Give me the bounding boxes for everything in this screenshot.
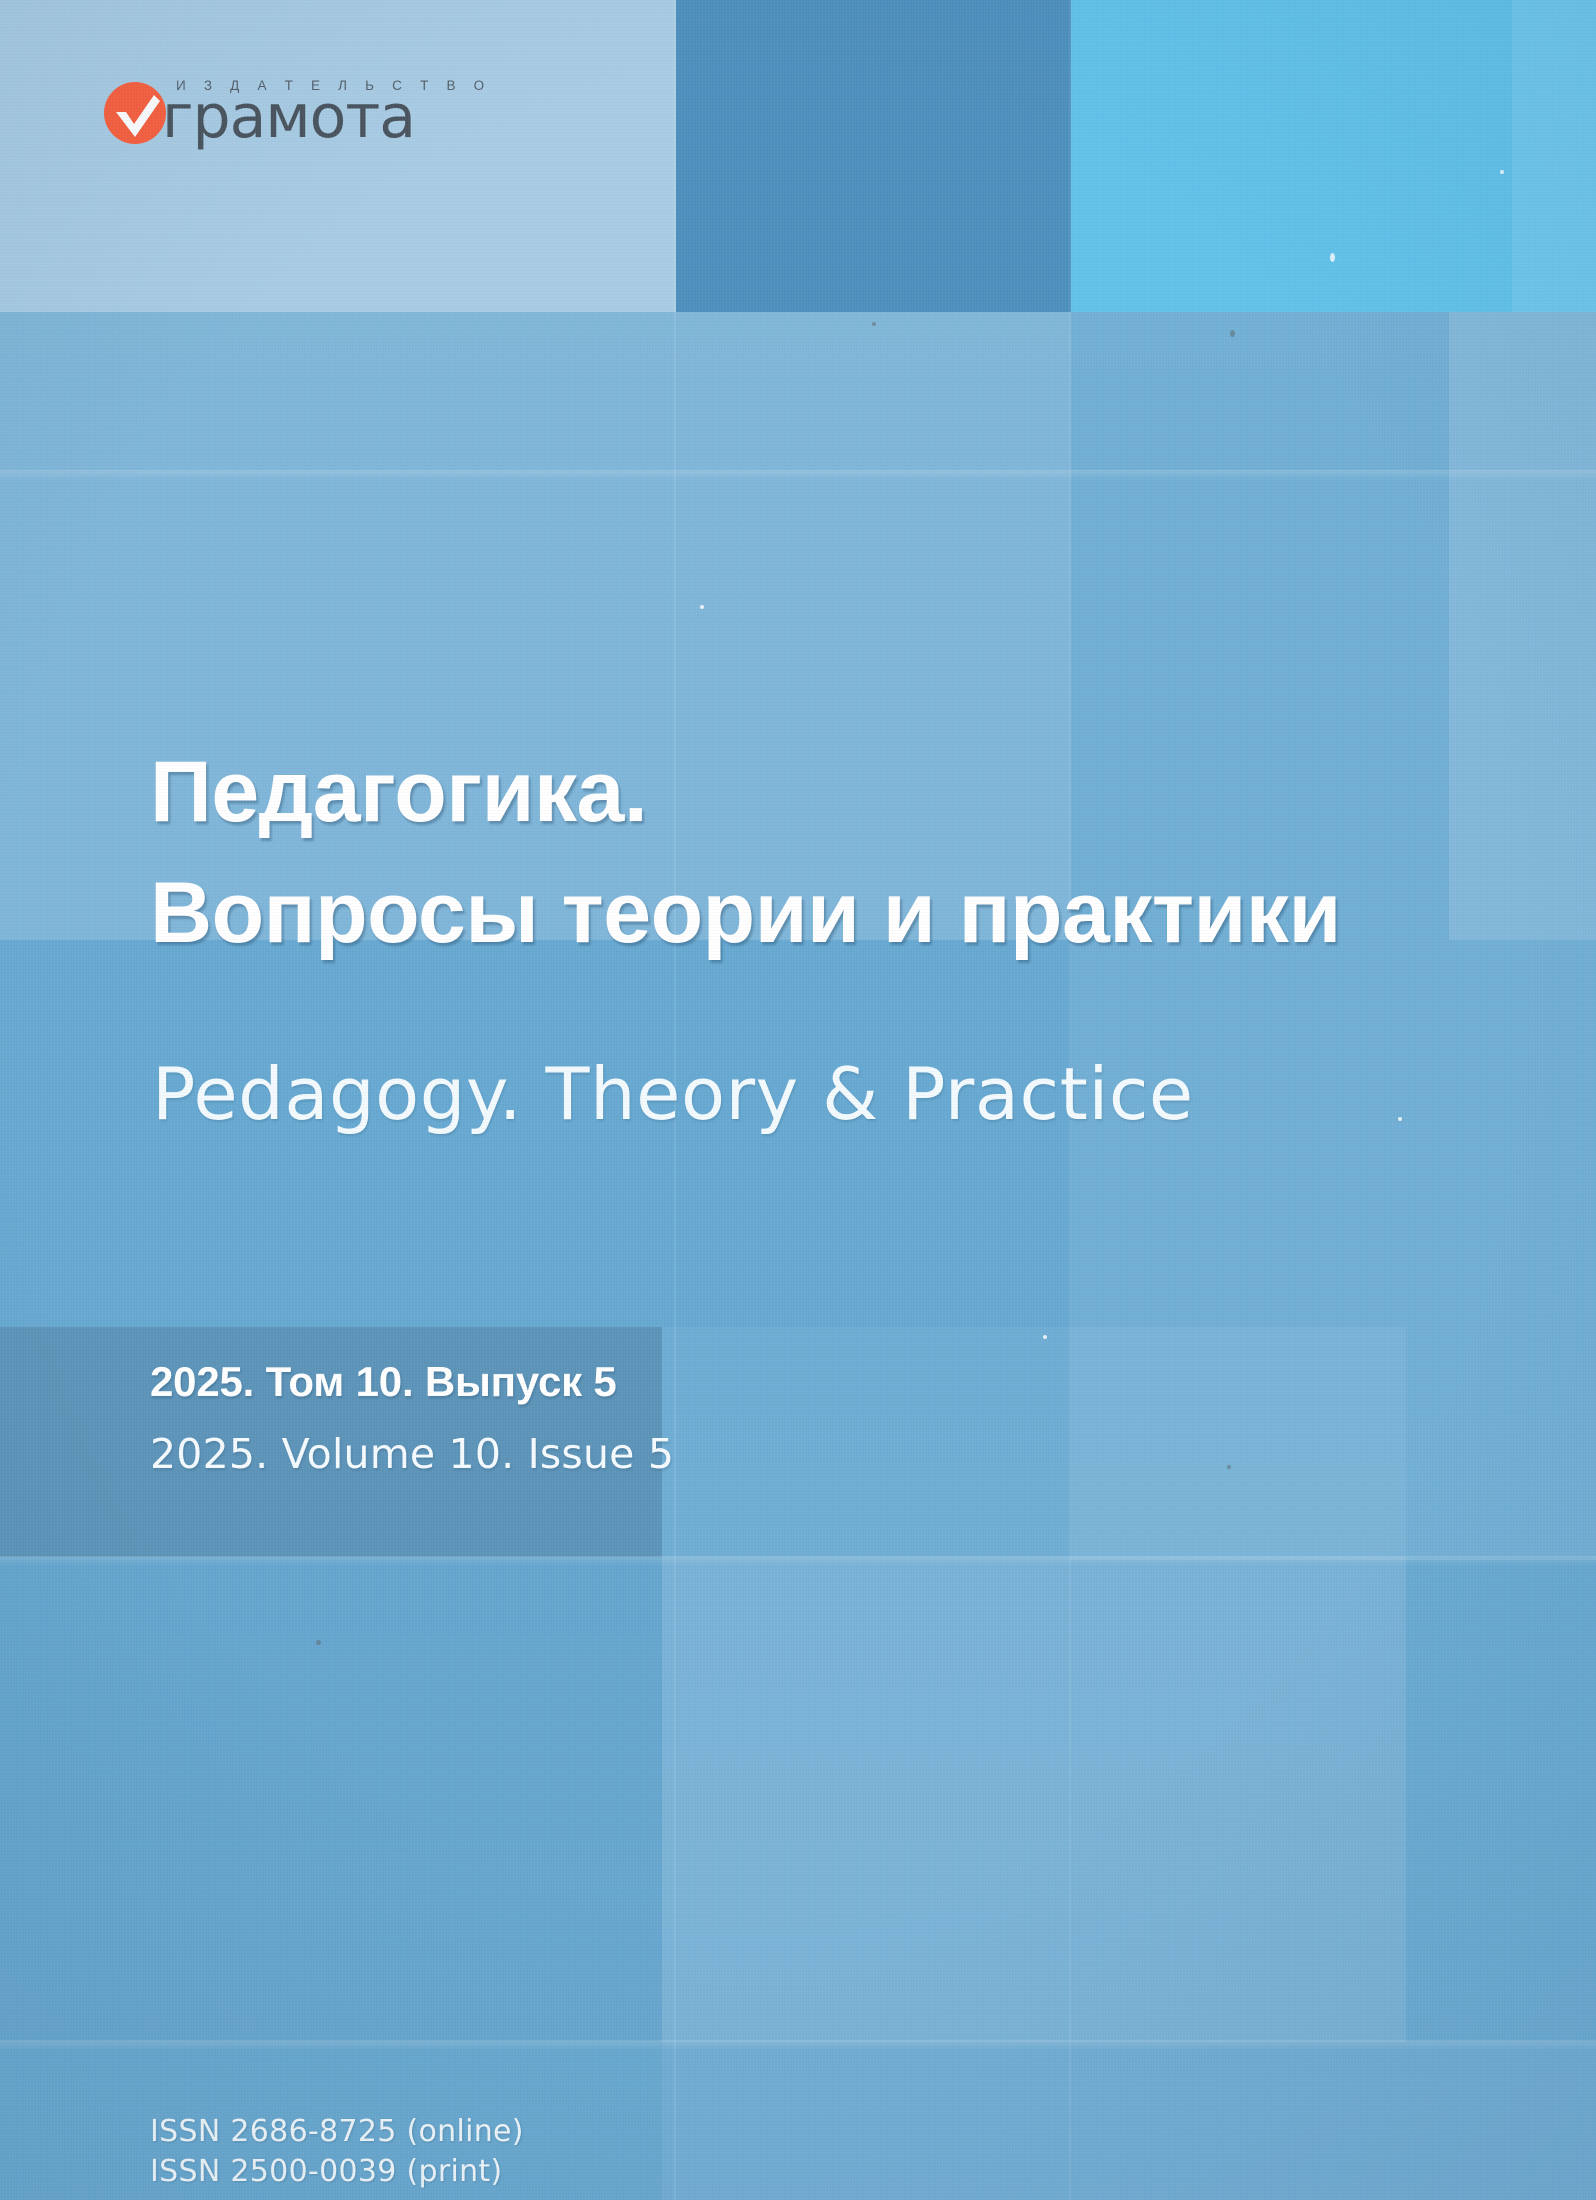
scan-crease-mid xyxy=(0,1556,1596,1566)
issue-info-ru: 2025. Том 10. Выпуск 5 xyxy=(150,1358,674,1406)
scan-speck-light xyxy=(1043,1335,1047,1339)
scan-speck-light xyxy=(1500,170,1504,174)
background-block-bottom-right xyxy=(662,2042,1596,2200)
gramota-disc-checkmark-icon xyxy=(104,82,166,144)
background-block-lower-left xyxy=(0,1557,662,2042)
scan-speck-light xyxy=(1398,1117,1402,1121)
scan-speck-light xyxy=(1330,253,1335,262)
publisher-name: грамота xyxy=(162,89,491,146)
journal-title: Педагогика. Вопросы теории и практики xyxy=(150,742,1410,965)
background-block-lower-middle xyxy=(662,1557,1406,2042)
background-block-right-pale xyxy=(1449,312,1596,940)
scan-speck xyxy=(316,1640,321,1645)
journal-title-ru-line1: Педагогика. xyxy=(150,742,1410,843)
publisher-logo: И З Д А Т Е Л Ь С Т В О грамота xyxy=(104,78,491,146)
scan-speck xyxy=(1230,330,1235,337)
background-block-top-dark xyxy=(938,0,1071,312)
background-block-top-middle xyxy=(676,0,938,312)
scan-speck xyxy=(1227,1465,1231,1469)
issue-info-en: 2025. Volume 10. Issue 5 xyxy=(150,1430,674,1478)
issue-info: 2025. Том 10. Выпуск 5 2025. Volume 10. … xyxy=(150,1358,674,1478)
background-block-issue-band-right xyxy=(662,1327,1406,1557)
background-block-top-left xyxy=(0,0,676,312)
journal-title-en: Pedagogy. Theory & Practice xyxy=(152,1052,1194,1136)
journal-title-ru-line2: Вопросы теории и практики xyxy=(150,863,1410,964)
issn-print: ISSN 2500-0039 (print) xyxy=(150,2152,524,2192)
journal-cover: И З Д А Т Е Л Ь С Т В О грамота Педагоги… xyxy=(0,0,1596,2200)
scan-crease-upper xyxy=(0,470,1596,480)
scan-speck-light xyxy=(700,605,704,609)
scan-speck xyxy=(872,322,876,326)
background-block-right-strip xyxy=(1512,0,1596,312)
issn-block: ISSN 2686-8725 (online) ISSN 2500-0039 (… xyxy=(150,2112,524,2191)
scan-crease-lower xyxy=(0,2040,1596,2050)
issn-online: ISSN 2686-8725 (online) xyxy=(150,2112,524,2152)
